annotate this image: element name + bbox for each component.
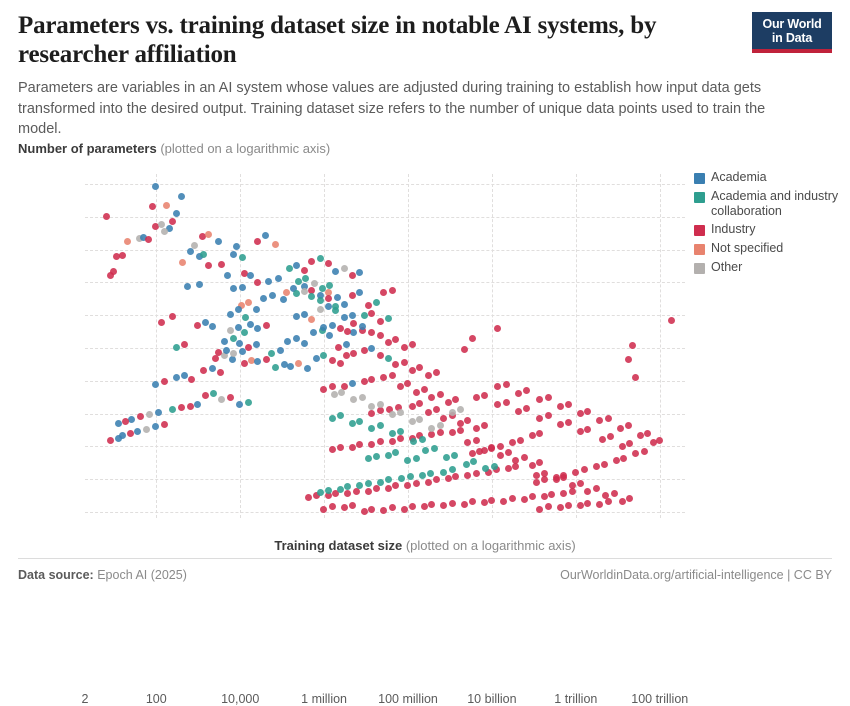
scatter-point[interactable] <box>143 426 150 433</box>
scatter-point[interactable] <box>572 469 579 476</box>
scatter-point[interactable] <box>119 252 126 259</box>
scatter-point[interactable] <box>389 438 396 445</box>
scatter-point[interactable] <box>230 350 237 357</box>
scatter-point[interactable] <box>239 284 246 291</box>
scatter-point[interactable] <box>317 489 324 496</box>
scatter-point[interactable] <box>413 480 420 487</box>
scatter-point[interactable] <box>503 381 510 388</box>
scatter-point[interactable] <box>437 391 444 398</box>
scatter-point[interactable] <box>473 394 480 401</box>
scatter-point[interactable] <box>449 466 456 473</box>
scatter-point[interactable] <box>577 480 584 487</box>
scatter-point[interactable] <box>368 345 375 352</box>
scatter-point[interactable] <box>656 437 663 444</box>
scatter-point[interactable] <box>601 461 608 468</box>
scatter-point[interactable] <box>254 238 261 245</box>
scatter-point[interactable] <box>181 372 188 379</box>
scatter-point[interactable] <box>553 474 560 481</box>
scatter-point[interactable] <box>584 500 591 507</box>
scatter-point[interactable] <box>221 338 228 345</box>
scatter-point[interactable] <box>209 365 216 372</box>
scatter-point[interactable] <box>337 360 344 367</box>
scatter-point[interactable] <box>200 367 207 374</box>
scatter-point[interactable] <box>380 289 387 296</box>
scatter-point[interactable] <box>445 475 452 482</box>
scatter-point[interactable] <box>416 400 423 407</box>
scatter-point[interactable] <box>401 359 408 366</box>
scatter-point[interactable] <box>494 401 501 408</box>
scatter-point[interactable] <box>385 452 392 459</box>
scatter-point[interactable] <box>593 463 600 470</box>
scatter-point[interactable] <box>265 278 272 285</box>
scatter-point[interactable] <box>473 437 480 444</box>
scatter-point[interactable] <box>263 356 270 363</box>
scatter-point[interactable] <box>611 490 618 497</box>
scatter-point[interactable] <box>416 364 423 371</box>
scatter-point[interactable] <box>449 429 456 436</box>
scatter-point[interactable] <box>397 409 404 416</box>
scatter-point[interactable] <box>152 423 159 430</box>
scatter-point[interactable] <box>356 482 363 489</box>
scatter-point[interactable] <box>350 329 357 336</box>
scatter-point[interactable] <box>311 280 318 287</box>
scatter-point[interactable] <box>210 390 217 397</box>
scatter-point[interactable] <box>356 289 363 296</box>
scatter-point[interactable] <box>187 248 194 255</box>
scatter-point[interactable] <box>605 498 612 505</box>
scatter-point[interactable] <box>385 485 392 492</box>
scatter-point[interactable] <box>344 490 351 497</box>
scatter-point[interactable] <box>122 418 129 425</box>
scatter-point[interactable] <box>545 394 552 401</box>
scatter-point[interactable] <box>229 356 236 363</box>
scatter-point[interactable] <box>329 383 336 390</box>
scatter-point[interactable] <box>413 455 420 462</box>
scatter-point[interactable] <box>349 444 356 451</box>
scatter-point[interactable] <box>200 251 207 258</box>
scatter-point[interactable] <box>361 347 368 354</box>
scatter-point[interactable] <box>329 357 336 364</box>
scatter-point[interactable] <box>293 262 300 269</box>
scatter-point[interactable] <box>517 437 524 444</box>
scatter-point[interactable] <box>368 376 375 383</box>
scatter-point[interactable] <box>521 496 528 503</box>
scatter-point[interactable] <box>334 294 341 301</box>
scatter-point[interactable] <box>194 401 201 408</box>
scatter-point[interactable] <box>617 425 624 432</box>
scatter-point[interactable] <box>329 415 336 422</box>
scatter-point[interactable] <box>409 503 416 510</box>
scatter-point[interactable] <box>325 303 332 310</box>
scatter-point[interactable] <box>245 399 252 406</box>
scatter-point[interactable] <box>295 278 302 285</box>
scatter-point[interactable] <box>509 495 516 502</box>
scatter-point[interactable] <box>184 283 191 290</box>
scatter-point[interactable] <box>596 417 603 424</box>
scatter-point[interactable] <box>410 438 417 445</box>
scatter-point[interactable] <box>629 342 636 349</box>
scatter-point[interactable] <box>272 241 279 248</box>
attribution[interactable]: OurWorldinData.org/artificial-intelligen… <box>560 568 832 582</box>
scatter-point[interactable] <box>620 455 627 462</box>
scatter-point[interactable] <box>607 433 614 440</box>
scatter-point[interactable] <box>178 404 185 411</box>
scatter-point[interactable] <box>565 502 572 509</box>
scatter-point[interactable] <box>545 412 552 419</box>
scatter-point[interactable] <box>349 292 356 299</box>
scatter-point[interactable] <box>428 501 435 508</box>
scatter-point[interactable] <box>320 324 327 331</box>
scatter-point[interactable] <box>577 428 584 435</box>
scatter-point[interactable] <box>515 408 522 415</box>
scatter-point[interactable] <box>293 335 300 342</box>
scatter-point[interactable] <box>338 389 345 396</box>
scatter-point[interactable] <box>505 449 512 456</box>
scatter-point[interactable] <box>301 340 308 347</box>
scatter-point[interactable] <box>179 259 186 266</box>
scatter-point[interactable] <box>431 445 438 452</box>
scatter-point[interactable] <box>425 372 432 379</box>
scatter-point[interactable] <box>494 325 501 332</box>
scatter-point[interactable] <box>536 415 543 422</box>
scatter-point[interactable] <box>215 349 222 356</box>
scatter-point[interactable] <box>326 282 333 289</box>
scatter-point[interactable] <box>461 501 468 508</box>
scatter-point[interactable] <box>637 432 644 439</box>
scatter-point[interactable] <box>428 425 435 432</box>
scatter-point[interactable] <box>397 383 404 390</box>
scatter-point[interactable] <box>584 426 591 433</box>
scatter-point[interactable] <box>350 320 357 327</box>
scatter-point[interactable] <box>457 406 464 413</box>
scatter-point[interactable] <box>115 420 122 427</box>
scatter-point[interactable] <box>409 403 416 410</box>
scatter-point[interactable] <box>173 344 180 351</box>
scatter-point[interactable] <box>422 447 429 454</box>
scatter-point[interactable] <box>239 348 246 355</box>
scatter-point[interactable] <box>302 275 309 282</box>
scatter-point[interactable] <box>523 387 530 394</box>
scatter-point[interactable] <box>515 390 522 397</box>
scatter-point[interactable] <box>463 461 470 468</box>
scatter-point[interactable] <box>301 311 308 318</box>
scatter-point[interactable] <box>344 483 351 490</box>
scatter-point[interactable] <box>401 344 408 351</box>
scatter-point[interactable] <box>398 475 405 482</box>
scatter-point[interactable] <box>577 502 584 509</box>
scatter-point[interactable] <box>440 502 447 509</box>
scatter-point[interactable] <box>350 396 357 403</box>
scatter-point[interactable] <box>389 372 396 379</box>
scatter-point[interactable] <box>115 435 122 442</box>
scatter-point[interactable] <box>308 258 315 265</box>
scatter-point[interactable] <box>178 193 185 200</box>
scatter-point[interactable] <box>272 364 279 371</box>
scatter-point[interactable] <box>461 346 468 353</box>
scatter-point[interactable] <box>581 466 588 473</box>
scatter-point[interactable] <box>361 378 368 385</box>
scatter-point[interactable] <box>329 446 336 453</box>
scatter-point[interactable] <box>152 183 159 190</box>
scatter-point[interactable] <box>310 329 317 336</box>
scatter-point[interactable] <box>389 287 396 294</box>
scatter-point[interactable] <box>295 360 302 367</box>
scatter-point[interactable] <box>373 453 380 460</box>
scatter-point[interactable] <box>365 480 372 487</box>
scatter-point[interactable] <box>481 422 488 429</box>
scatter-point[interactable] <box>377 407 384 414</box>
scatter-point[interactable] <box>356 269 363 276</box>
scatter-point[interactable] <box>260 295 267 302</box>
scatter-point[interactable] <box>263 322 270 329</box>
scatter-point[interactable] <box>605 415 612 422</box>
scatter-point[interactable] <box>409 341 416 348</box>
scatter-point[interactable] <box>361 312 368 319</box>
scatter-point[interactable] <box>241 360 248 367</box>
scatter-point[interactable] <box>377 401 384 408</box>
scatter-point[interactable] <box>644 430 651 437</box>
scatter-point[interactable] <box>425 409 432 416</box>
scatter-point[interactable] <box>368 425 375 432</box>
scatter-point[interactable] <box>392 482 399 489</box>
scatter-point[interactable] <box>529 432 536 439</box>
scatter-point[interactable] <box>560 490 567 497</box>
scatter-point[interactable] <box>377 332 384 339</box>
scatter-point[interactable] <box>548 491 555 498</box>
scatter-point[interactable] <box>215 238 222 245</box>
scatter-point[interactable] <box>301 288 308 295</box>
scatter-point[interactable] <box>419 436 426 443</box>
scatter-point[interactable] <box>127 430 134 437</box>
scatter-point[interactable] <box>497 443 504 450</box>
scatter-point[interactable] <box>205 231 212 238</box>
scatter-point[interactable] <box>152 381 159 388</box>
scatter-point[interactable] <box>275 275 282 282</box>
scatter-point[interactable] <box>332 268 339 275</box>
scatter-point[interactable] <box>373 299 380 306</box>
scatter-point[interactable] <box>533 472 540 479</box>
scatter-point[interactable] <box>145 236 152 243</box>
scatter-point[interactable] <box>619 443 626 450</box>
scatter-point[interactable] <box>473 425 480 432</box>
scatter-point[interactable] <box>239 254 246 261</box>
scatter-point[interactable] <box>641 448 648 455</box>
scatter-point[interactable] <box>350 350 357 357</box>
scatter-point[interactable] <box>343 341 350 348</box>
scatter-point[interactable] <box>404 457 411 464</box>
scatter-point[interactable] <box>397 428 404 435</box>
scatter-point[interactable] <box>196 281 203 288</box>
scatter-point[interactable] <box>227 311 234 318</box>
scatter-point[interactable] <box>593 485 600 492</box>
scatter-point[interactable] <box>470 458 477 465</box>
scatter-point[interactable] <box>254 358 261 365</box>
scatter-point[interactable] <box>599 436 606 443</box>
scatter-point[interactable] <box>335 344 342 351</box>
scatter-point[interactable] <box>404 380 411 387</box>
scatter-point[interactable] <box>293 290 300 297</box>
scatter-point[interactable] <box>457 427 464 434</box>
scatter-point[interactable] <box>301 267 308 274</box>
scatter-point[interactable] <box>557 504 564 511</box>
scatter-point[interactable] <box>236 340 243 347</box>
scatter-point[interactable] <box>356 418 363 425</box>
scatter-point[interactable] <box>337 412 344 419</box>
scatter-point[interactable] <box>425 479 432 486</box>
scatter-point[interactable] <box>529 462 536 469</box>
scatter-point[interactable] <box>521 454 528 461</box>
scatter-point[interactable] <box>464 439 471 446</box>
scatter-point[interactable] <box>319 285 326 292</box>
scatter-point[interactable] <box>433 476 440 483</box>
scatter-point[interactable] <box>241 329 248 336</box>
scatter-point[interactable] <box>452 396 459 403</box>
scatter-point[interactable] <box>404 482 411 489</box>
scatter-point[interactable] <box>536 459 543 466</box>
scatter-point[interactable] <box>389 430 396 437</box>
scatter-point[interactable] <box>305 494 312 501</box>
scatter-point[interactable] <box>368 403 375 410</box>
scatter-point[interactable] <box>377 438 384 445</box>
scatter-point[interactable] <box>254 279 261 286</box>
scatter-point[interactable] <box>433 406 440 413</box>
scatter-point[interactable] <box>341 504 348 511</box>
scatter-point[interactable] <box>476 448 483 455</box>
scatter-point[interactable] <box>392 449 399 456</box>
scatter-point[interactable] <box>365 488 372 495</box>
scatter-point[interactable] <box>317 255 324 262</box>
scatter-point[interactable] <box>437 429 444 436</box>
scatter-point[interactable] <box>397 435 404 442</box>
scatter-point[interactable] <box>235 306 242 313</box>
scatter-point[interactable] <box>385 315 392 322</box>
scatter-point[interactable] <box>245 299 252 306</box>
scatter-point[interactable] <box>161 228 168 235</box>
scatter-point[interactable] <box>161 378 168 385</box>
scatter-point[interactable] <box>464 472 471 479</box>
scatter-point[interactable] <box>218 261 225 268</box>
scatter-point[interactable] <box>361 508 368 515</box>
scatter-point[interactable] <box>128 416 135 423</box>
scatter-point[interactable] <box>368 410 375 417</box>
scatter-point[interactable] <box>419 472 426 479</box>
scatter-point[interactable] <box>545 503 552 510</box>
scatter-point[interactable] <box>488 497 495 504</box>
scatter-point[interactable] <box>262 232 269 239</box>
scatter-point[interactable] <box>451 452 458 459</box>
scatter-point[interactable] <box>341 301 348 308</box>
scatter-point[interactable] <box>625 422 632 429</box>
scatter-point[interactable] <box>557 403 564 410</box>
scatter-point[interactable] <box>523 405 530 412</box>
scatter-point[interactable] <box>227 394 234 401</box>
scatter-point[interactable] <box>161 421 168 428</box>
scatter-point[interactable] <box>494 383 501 390</box>
scatter-point[interactable] <box>469 335 476 342</box>
scatter-point[interactable] <box>445 399 452 406</box>
scatter-point[interactable] <box>110 268 117 275</box>
scatter-point[interactable] <box>541 493 548 500</box>
scatter-point[interactable] <box>377 318 384 325</box>
scatter-point[interactable] <box>359 323 366 330</box>
scatter-point[interactable] <box>331 391 338 398</box>
legend-item[interactable]: Industry <box>694 222 844 237</box>
scatter-point[interactable] <box>146 411 153 418</box>
scatter-point[interactable] <box>284 338 291 345</box>
scatter-point[interactable] <box>134 428 141 435</box>
scatter-point[interactable] <box>365 302 372 309</box>
scatter-point[interactable] <box>533 479 540 486</box>
scatter-point[interactable] <box>320 352 327 359</box>
scatter-point[interactable] <box>565 401 572 408</box>
scatter-point[interactable] <box>536 430 543 437</box>
scatter-point[interactable] <box>619 498 626 505</box>
scatter-point[interactable] <box>155 409 162 416</box>
scatter-point[interactable] <box>469 498 476 505</box>
scatter-point[interactable] <box>505 465 512 472</box>
scatter-point[interactable] <box>596 501 603 508</box>
scatter-point[interactable] <box>385 355 392 362</box>
scatter-point[interactable] <box>389 504 396 511</box>
scatter-point[interactable] <box>253 341 260 348</box>
scatter-point[interactable] <box>632 450 639 457</box>
scatter-point[interactable] <box>512 463 519 470</box>
scatter-point[interactable] <box>416 416 423 423</box>
scatter-point[interactable] <box>242 314 249 321</box>
scatter-point[interactable] <box>230 285 237 292</box>
scatter-point[interactable] <box>103 213 110 220</box>
scatter-point[interactable] <box>349 272 356 279</box>
scatter-point[interactable] <box>529 493 536 500</box>
scatter-point[interactable] <box>343 352 350 359</box>
scatter-point[interactable] <box>473 470 480 477</box>
scatter-point[interactable] <box>304 365 311 372</box>
scatter-point[interactable] <box>173 374 180 381</box>
scatter-point[interactable] <box>536 396 543 403</box>
scatter-point[interactable] <box>325 487 332 494</box>
scatter-point[interactable] <box>329 322 336 329</box>
scatter-point[interactable] <box>488 445 495 452</box>
scatter-point[interactable] <box>421 386 428 393</box>
scatter-point[interactable] <box>626 495 633 502</box>
scatter-point[interactable] <box>169 218 176 225</box>
scatter-point[interactable] <box>349 312 356 319</box>
scatter-point[interactable] <box>326 332 333 339</box>
scatter-point[interactable] <box>337 325 344 332</box>
legend-item[interactable]: Academia and industry collaboration <box>694 189 844 219</box>
scatter-point[interactable] <box>349 420 356 427</box>
scatter-point[interactable] <box>392 361 399 368</box>
scatter-point[interactable] <box>268 350 275 357</box>
scatter-point[interactable] <box>124 238 131 245</box>
legend-item[interactable]: Not specified <box>694 241 844 256</box>
scatter-point[interactable] <box>377 352 384 359</box>
scatter-point[interactable] <box>227 327 234 334</box>
scatter-point[interactable] <box>428 431 435 438</box>
scatter-point[interactable] <box>158 319 165 326</box>
scatter-point[interactable] <box>385 476 392 483</box>
scatter-point[interactable] <box>247 272 254 279</box>
scatter-point[interactable] <box>584 488 591 495</box>
scatter-point[interactable] <box>625 356 632 363</box>
scatter-point[interactable] <box>359 394 366 401</box>
scatter-point[interactable] <box>373 485 380 492</box>
scatter-point[interactable] <box>401 506 408 513</box>
scatter-point[interactable] <box>236 401 243 408</box>
scatter-point[interactable] <box>368 329 375 336</box>
scatter-point[interactable] <box>481 392 488 399</box>
scatter-point[interactable] <box>385 339 392 346</box>
